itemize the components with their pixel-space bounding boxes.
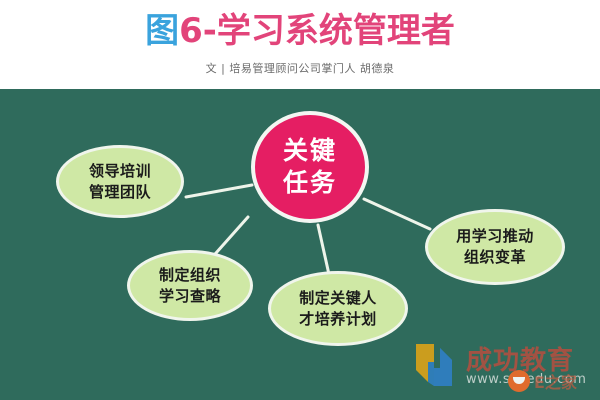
node-drive-change-line2: 组织变革 [464, 247, 526, 268]
page-title-figure: 图 [145, 11, 179, 51]
node-drive-change[interactable]: 用学习推动 组织变革 [425, 209, 565, 285]
node-learning-strategy[interactable]: 制定组织 学习查略 [127, 250, 253, 321]
node-talent-plan-line1: 制定关键人 [299, 288, 377, 309]
connector-center-to-leadership-training [186, 185, 252, 197]
node-learning-strategy-line2: 学习查略 [159, 286, 221, 307]
node-key-tasks-line2: 任务 [283, 167, 337, 199]
node-key-tasks[interactable]: 关键 任务 [251, 111, 369, 223]
connector-center-to-drive-change [364, 199, 430, 229]
node-leadership-training[interactable]: 领导培训 管理团队 [56, 145, 184, 218]
brand-tail-text: E之家 [534, 369, 577, 393]
diagram-page: 图6-学习系统管理者 文 | 培易管理顾问公司掌门人 胡德泉 关键 任务 领导培… [0, 0, 600, 400]
node-key-tasks-line1: 关键 [283, 135, 337, 167]
node-leadership-training-line2: 管理团队 [89, 182, 151, 203]
node-talent-plan[interactable]: 制定关键人 才培养计划 [268, 271, 408, 346]
node-learning-strategy-line1: 制定组织 [159, 265, 221, 286]
page-title: 图6-学习系统管理者 [0, 0, 600, 51]
node-drive-change-line1: 用学习推动 [456, 226, 534, 247]
brand-logo-icon [410, 342, 460, 388]
diagram-canvas: 关键 任务 领导培训 管理团队 制定组织 学习查略 制定关键人 才培养计划 用学… [0, 89, 600, 400]
page-subtitle-byline: 文 | 培易管理顾问公司掌门人 胡德泉 [0, 51, 600, 76]
node-talent-plan-line2: 才培养计划 [299, 309, 377, 330]
node-leadership-training-line1: 领导培训 [89, 161, 151, 182]
page-title-rest: 6-学习系统管理者 [179, 11, 455, 51]
smiley-badge-icon [508, 370, 530, 392]
site-watermark: 成功教育 www.sucedu.com E之家 [404, 336, 594, 398]
page-header: 图6-学习系统管理者 文 | 培易管理顾问公司掌门人 胡德泉 [0, 0, 600, 89]
